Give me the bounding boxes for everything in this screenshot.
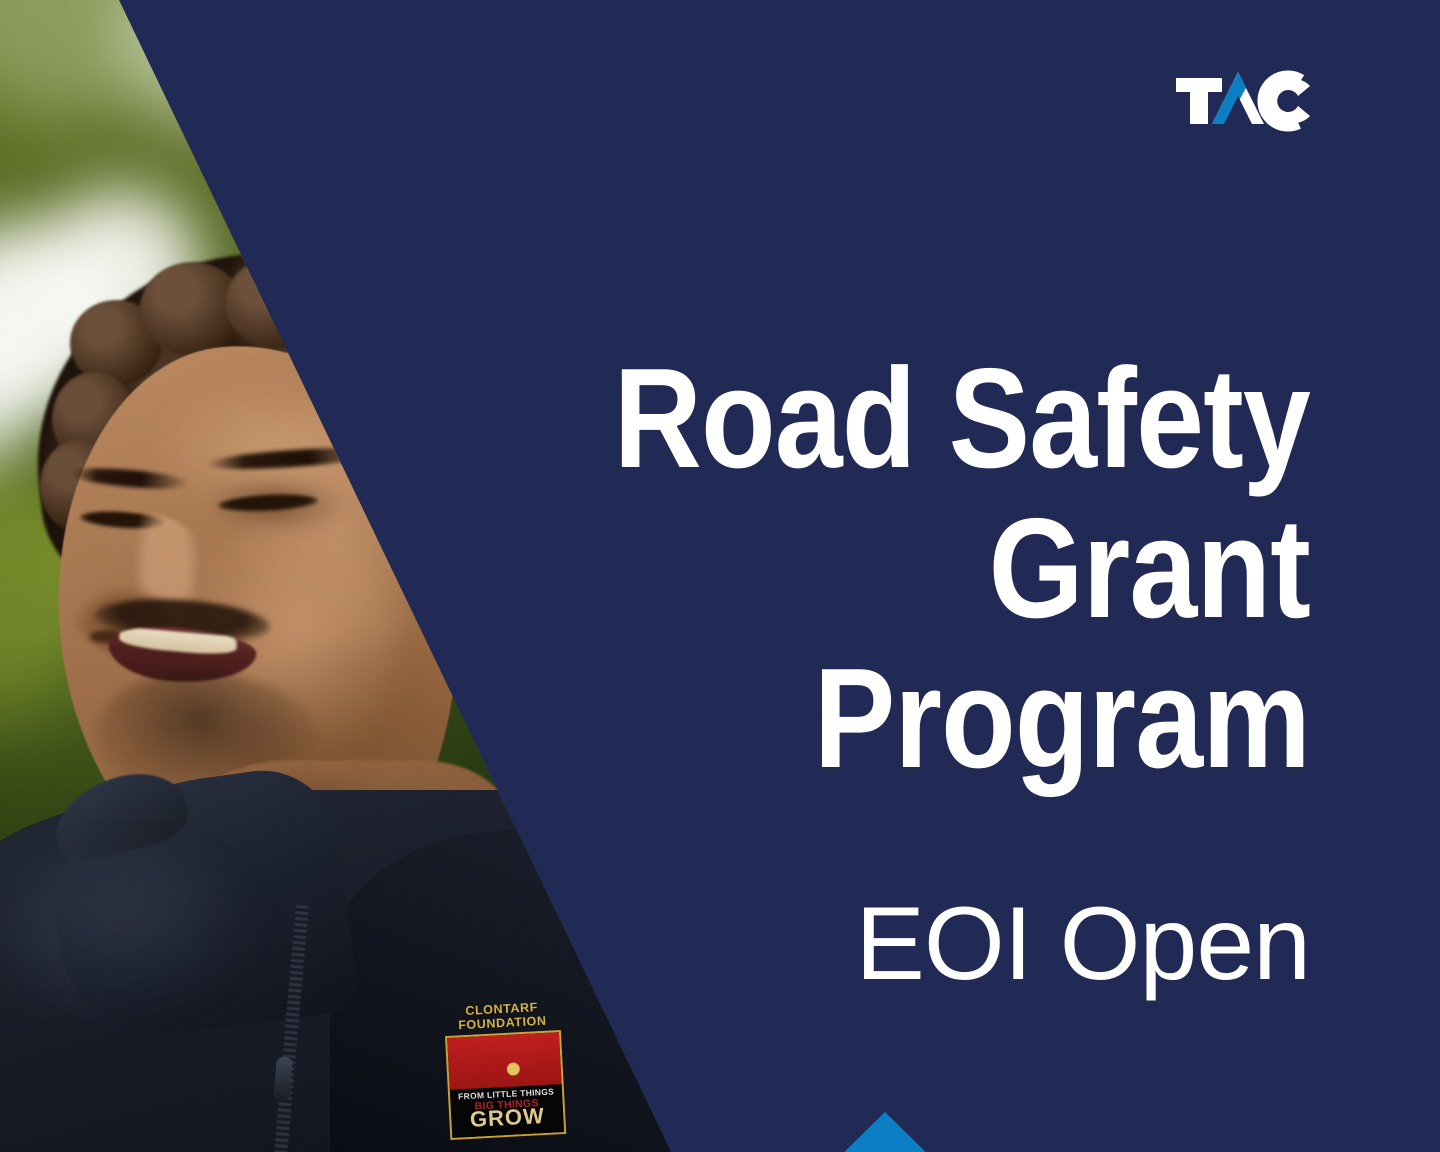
patch-artwork: FROM LITTLE THINGS BIG THINGS GROW: [445, 1030, 566, 1140]
poster-canvas: CLONTARF FOUNDATION FROM LITTLE THINGS B…: [0, 0, 1440, 1152]
accent-triangle-icon: [828, 1112, 942, 1152]
shoulder-highlight: [0, 850, 260, 1010]
tac-logo: [1176, 68, 1310, 132]
subtitle-status: EOI Open: [410, 888, 1310, 1000]
tac-logo-letter-t: [1176, 78, 1222, 124]
hair-curl: [360, 330, 446, 416]
clontarf-foundation-patch: CLONTARF FOUNDATION FROM LITTLE THINGS B…: [443, 1000, 566, 1146]
hair-curl: [225, 258, 325, 348]
hair-curl: [300, 282, 396, 370]
page-title: Road Safety Grant Program: [536, 344, 1310, 794]
